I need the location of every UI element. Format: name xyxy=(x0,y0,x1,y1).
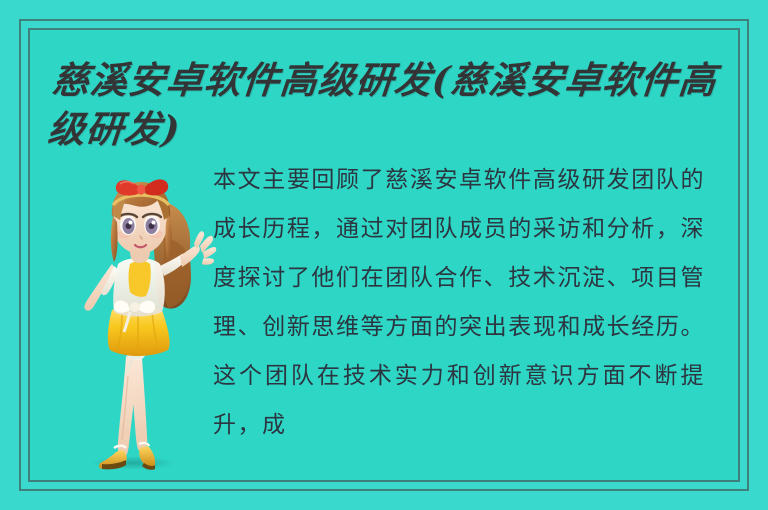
illustration-figure xyxy=(56,160,226,480)
page-title: 慈溪安卓软件高级研发(慈溪安卓软件高级研发) xyxy=(46,56,740,154)
body-paragraph: 本文主要回顾了慈溪安卓软件高级研发团队的成长历程，通过对团队成员的采访和分析，深… xyxy=(213,156,705,450)
chibi-anime-girl-illustration xyxy=(56,160,226,480)
poster-content-stage: 慈溪安卓软件高级研发(慈溪安卓软件高级研发) xyxy=(28,28,740,482)
poster-canvas: 慈溪安卓软件高级研发(慈溪安卓软件高级研发) xyxy=(0,0,768,510)
